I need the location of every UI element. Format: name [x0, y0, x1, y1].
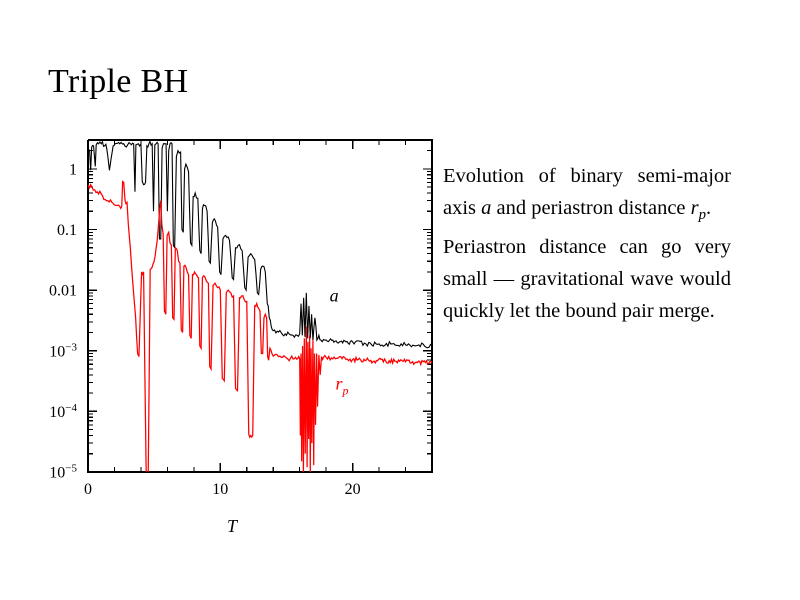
y-tick-label: 0.1 [57, 222, 77, 239]
figure-plot: 10.10.0110−310−410−501020Tarp [20, 130, 440, 550]
y-tick-label: 1 [69, 161, 77, 178]
page-title: Triple BH [48, 62, 188, 102]
series-line-rp [88, 182, 432, 478]
y-tick-label: 10−5 [49, 463, 77, 482]
y-tick-label: 10−3 [49, 341, 77, 360]
slide-canvas: Triple BH 10.10.0110−310−410−501020Tarp … [0, 0, 800, 600]
x-axis-title: T [227, 516, 239, 536]
math-var-a: a [481, 197, 491, 219]
para1-tail: . [706, 197, 711, 219]
x-tick-label: 10 [212, 481, 228, 498]
x-tick-label: 20 [345, 481, 361, 498]
paragraph-two: Periastron distance can go very small — … [443, 231, 731, 327]
para1-mid: and periastron distance [491, 197, 690, 219]
curve-label-rp: rp [336, 373, 349, 397]
y-tick-label: 0.01 [49, 283, 77, 300]
math-var-r: r [691, 197, 699, 219]
curve-label-a: a [330, 285, 339, 305]
plot-frame [88, 140, 432, 472]
math-var-r-subscript: p [699, 207, 706, 223]
description-text: Evolution of binary semi-major axis a an… [443, 160, 731, 327]
chart-svg: 10.10.0110−310−410−501020Tarp [20, 130, 440, 550]
paragraph-one: Evolution of binary semi-major axis a an… [443, 160, 731, 231]
series-group [88, 141, 432, 477]
x-tick-label: 0 [84, 481, 92, 498]
y-tick-label: 10−4 [49, 402, 77, 421]
